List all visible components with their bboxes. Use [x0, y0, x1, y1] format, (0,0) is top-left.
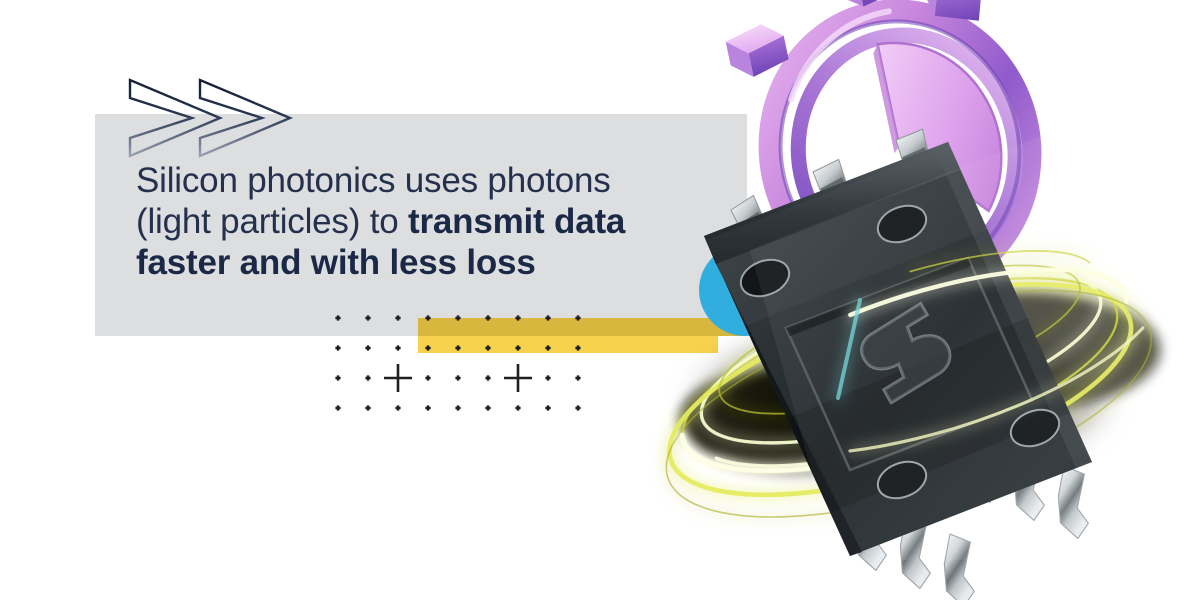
grid-dot	[545, 375, 550, 380]
grid-dot	[335, 405, 340, 410]
grid-plus	[504, 364, 532, 392]
grid-dot	[365, 375, 370, 380]
chevron-2-icon	[200, 80, 290, 156]
grid-dot	[515, 315, 520, 320]
double-chevron-decoration	[128, 66, 328, 171]
grid-dot	[395, 405, 400, 410]
grid-dot	[485, 345, 490, 350]
headline-line-1: Silicon photonics uses photons	[136, 161, 611, 200]
grid-dot	[365, 405, 370, 410]
grid-dot	[455, 345, 460, 350]
grid-dot	[425, 375, 430, 380]
grid-dot	[575, 315, 580, 320]
grid-dot	[485, 315, 490, 320]
grid-dot	[515, 405, 520, 410]
headline-line-2-regular: (light particles) to	[136, 202, 408, 241]
grid-dot	[335, 345, 340, 350]
grid-dot	[455, 375, 460, 380]
chevron-1-icon	[130, 80, 220, 156]
grid-dot	[365, 315, 370, 320]
grid-dot	[425, 345, 430, 350]
grid-dot	[395, 315, 400, 320]
dot-plus-grid-pattern	[330, 310, 620, 425]
grid-dot	[545, 345, 550, 350]
grid-dot	[515, 345, 520, 350]
grid-dot	[365, 345, 370, 350]
grid-dot	[545, 315, 550, 320]
grid-dot	[485, 405, 490, 410]
grid-dot	[575, 375, 580, 380]
infographic-canvas: Silicon photonics uses photons (light pa…	[0, 0, 1200, 600]
st-power-package-illustration	[600, 0, 1200, 600]
grid-dot	[575, 405, 580, 410]
grid-dot	[425, 405, 430, 410]
grid-dot	[335, 375, 340, 380]
grid-plus	[384, 364, 412, 392]
headline-line-2-bold: transmit data	[408, 202, 625, 241]
grid-dot	[335, 315, 340, 320]
grid-dot	[425, 315, 430, 320]
grid-dot	[545, 405, 550, 410]
headline-line-3-bold: faster and with less loss	[136, 243, 536, 282]
grid-dot	[485, 375, 490, 380]
grid-dot	[575, 345, 580, 350]
grid-dot	[455, 315, 460, 320]
grid-dot	[395, 345, 400, 350]
grid-dot	[455, 405, 460, 410]
